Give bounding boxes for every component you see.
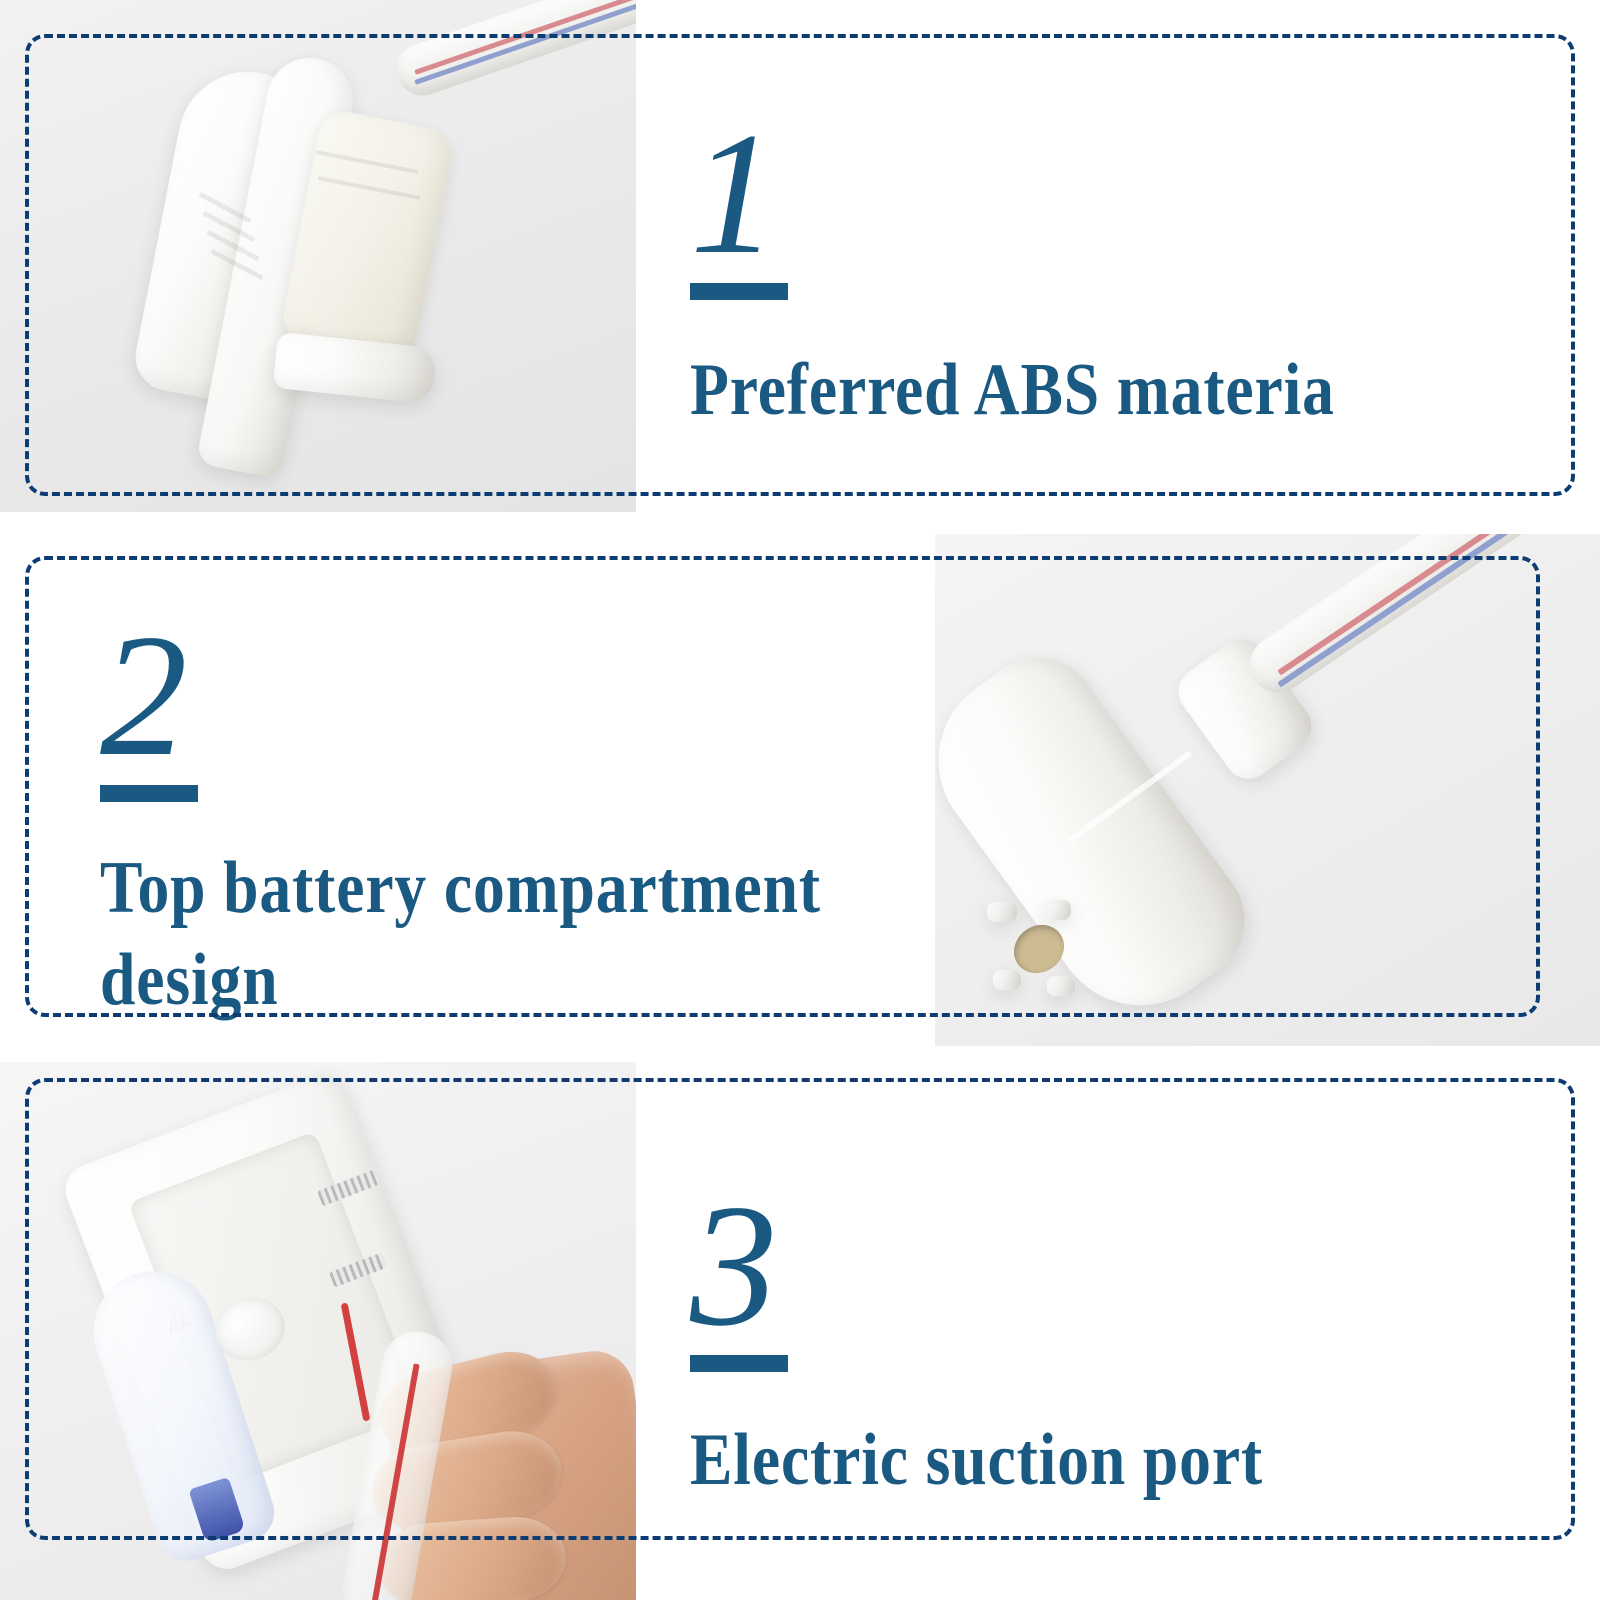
feature-number-1: 1	[690, 118, 1440, 269]
infographic-canvas: 1 Preferred ABS materia 2 Top battery co…	[0, 0, 1600, 1600]
feature-text-3: 3 Electric suction port	[690, 1190, 1356, 1506]
feature-panel-2	[25, 556, 1540, 1017]
feature-headline-3: Electric suction port	[690, 1414, 1263, 1507]
feature-headline-1: Preferred ABS materia	[690, 344, 1335, 437]
feature-number-3: 3	[690, 1190, 1356, 1341]
feature-text-1: 1 Preferred ABS materia	[690, 118, 1440, 436]
